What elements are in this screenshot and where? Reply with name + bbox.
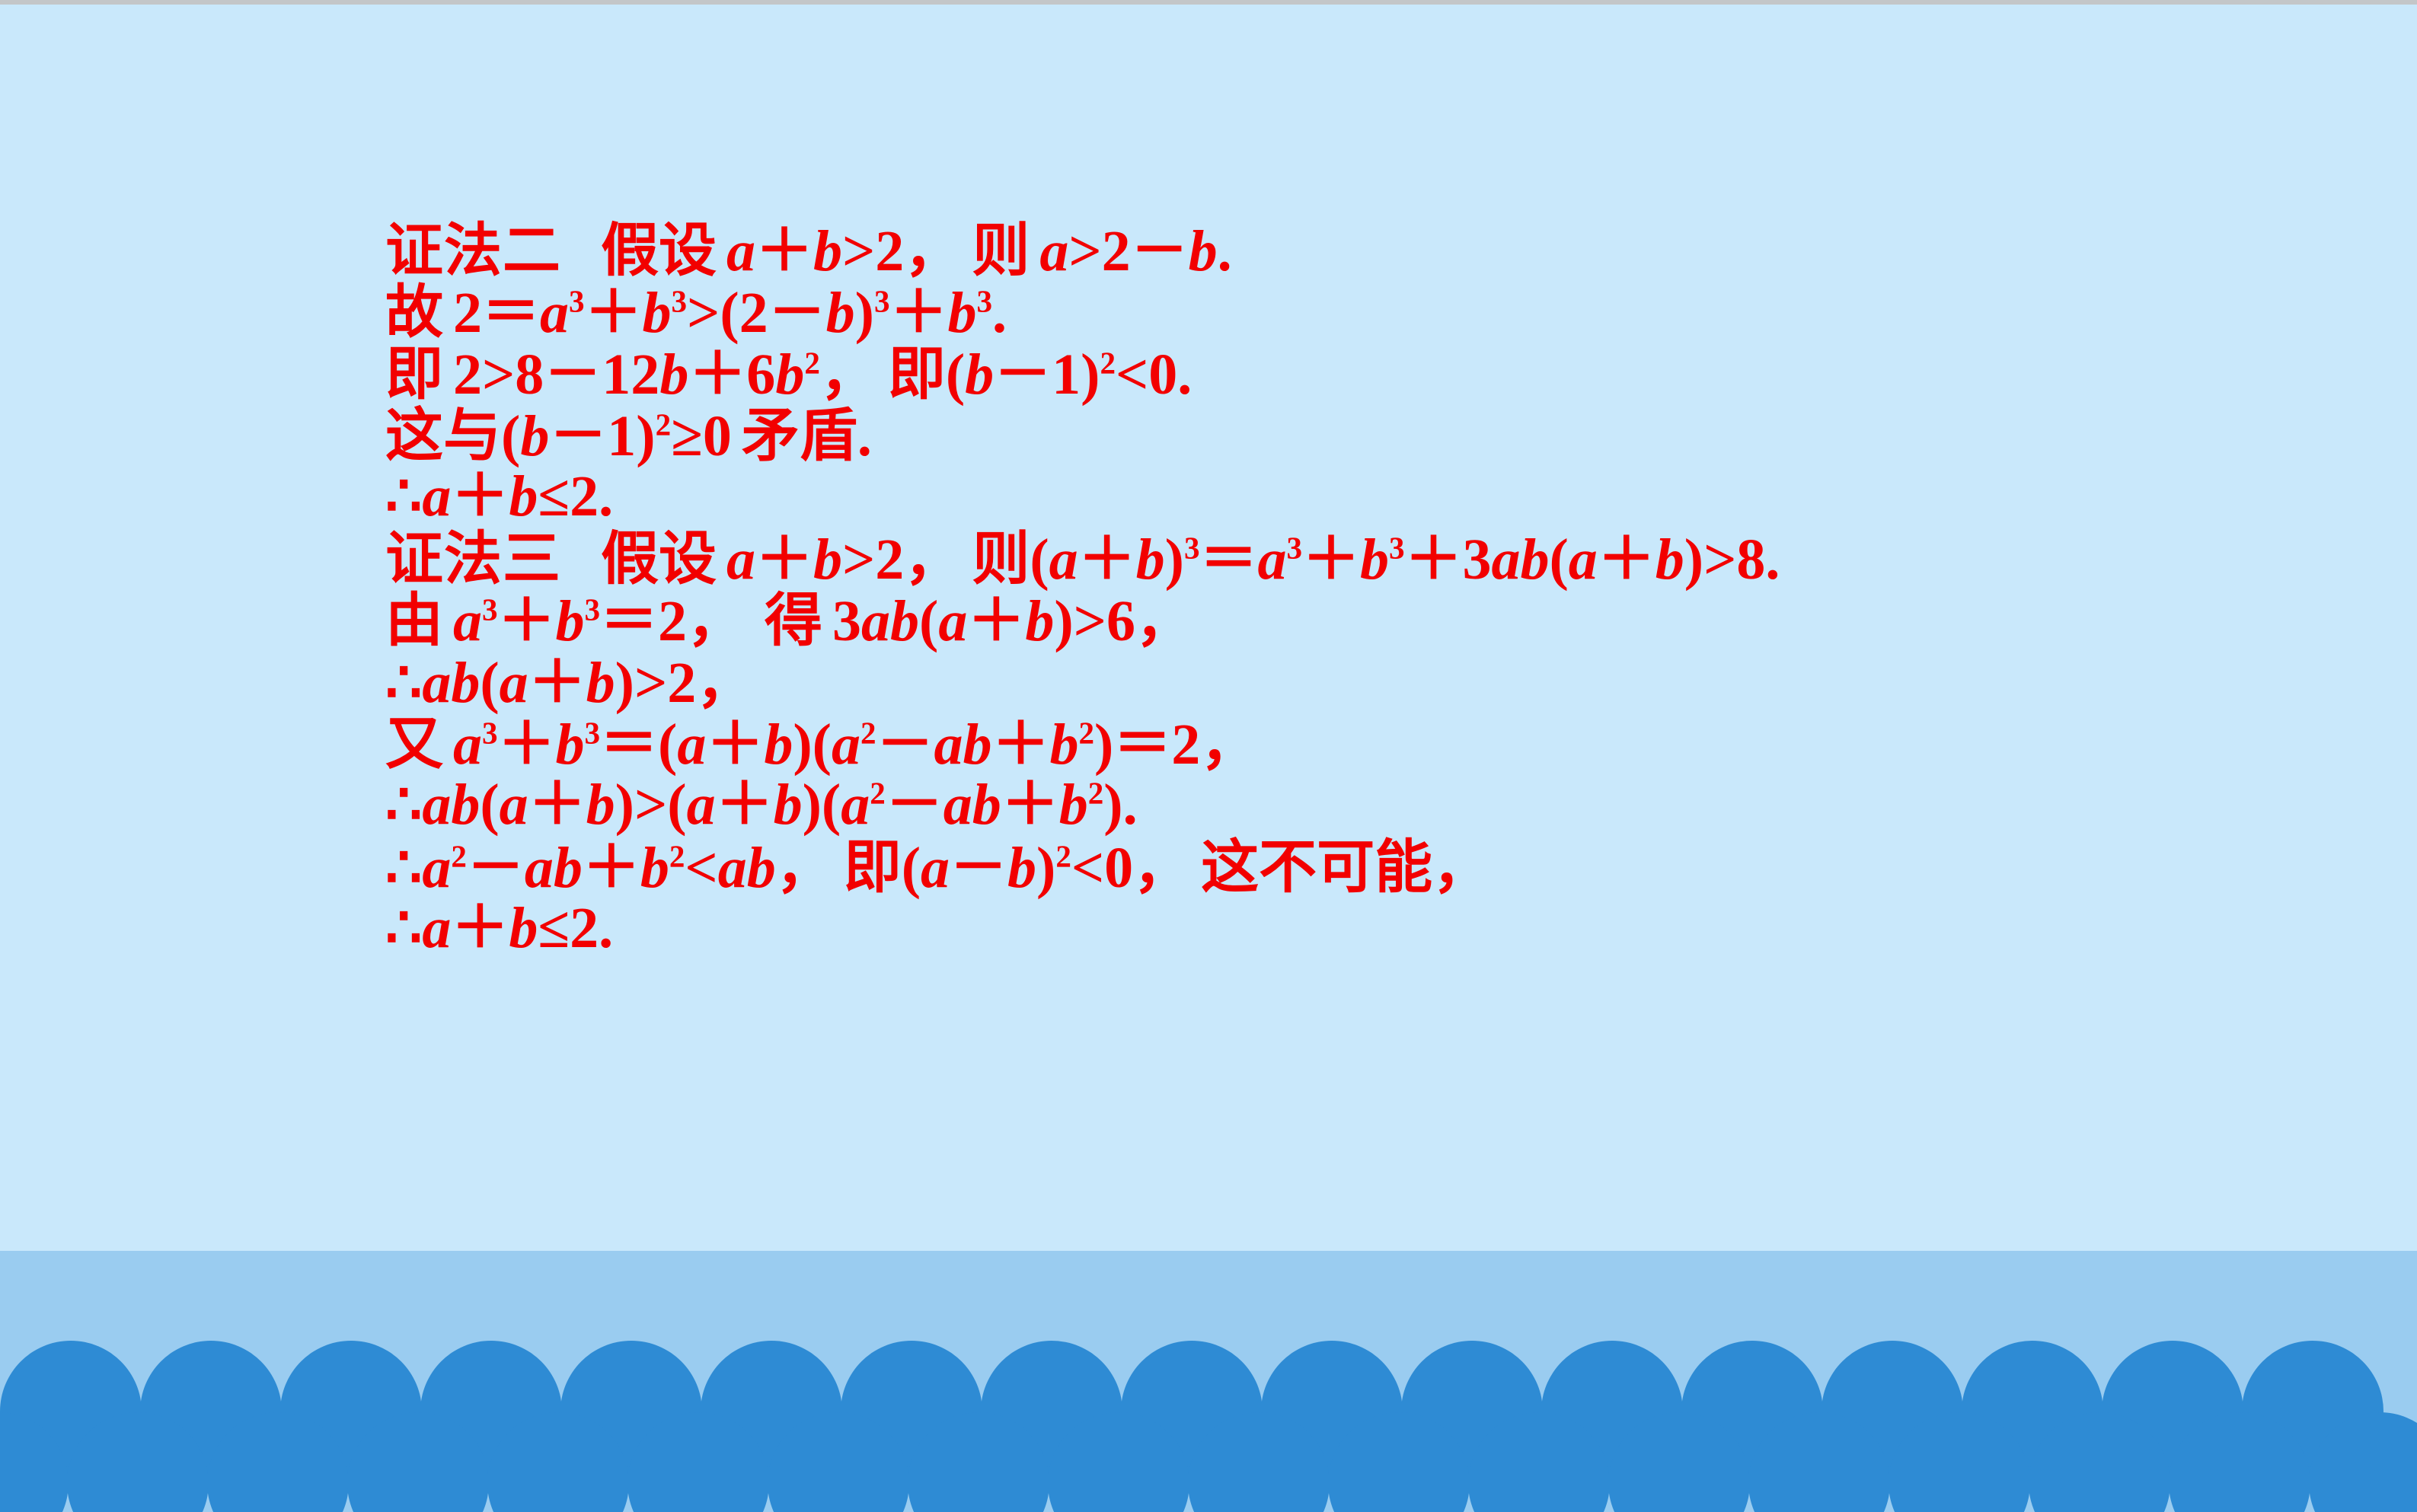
scallop-dot xyxy=(2029,1412,2170,1512)
scallop-dot xyxy=(347,1412,489,1512)
scallop-decoration-row-bottom xyxy=(0,1412,2417,1512)
scallop-dot xyxy=(1608,1412,1750,1512)
scallop-dot xyxy=(207,1412,349,1512)
proof-three-conclusion: ∴a＋b≤2. xyxy=(385,898,2380,959)
scallop-dot xyxy=(1048,1412,1189,1512)
scallop-dot xyxy=(0,1412,69,1512)
proof-three-step-3: 又a3＋b3＝(a＋b)(a2－ab＋b2)＝2， xyxy=(385,713,2380,774)
impossible-word: 这不可能 xyxy=(1201,833,1432,901)
that-is-word-c: 即 xyxy=(844,833,902,901)
proof-three-step-2: ∴ab(a＋b)>2， xyxy=(385,651,2380,713)
scallop-dot xyxy=(2169,1412,2310,1512)
proof-three-heading-line: 证法三假设a＋b>2，则(a＋b)3＝a3＋b3＋3ab(a＋b)>8. xyxy=(385,528,2380,589)
proof-three-label: 证法三 xyxy=(385,525,561,592)
proof-three-step-4: ∴ab(a＋b)>(a＋b)(a2－ab＋b2). xyxy=(385,774,2380,836)
assume-word-2: 假设 xyxy=(601,525,717,592)
then-word-2: 则 xyxy=(972,525,1030,592)
proof-text-block: 证法二假设a＋b>2，则a>2－b. 故2＝a3＋b3>(2－b)3＋b3. 即… xyxy=(385,219,2380,959)
therefore-cause-word: 故 xyxy=(385,278,443,346)
that-is-word-b: 即 xyxy=(888,340,946,407)
therefore-symbol-5: ∴ xyxy=(385,896,422,960)
proof-two-conclusion: ∴a＋b≤2. xyxy=(385,466,2380,528)
therefore-symbol-3: ∴ xyxy=(385,773,422,837)
therefore-symbol-1: ∴ xyxy=(385,464,422,528)
proof-two-step-2: 即2>8－12b＋6b2，即(b－1)2<0. xyxy=(385,343,2380,404)
from-word: 由 xyxy=(385,586,443,654)
scallop-dot xyxy=(487,1412,629,1512)
scallop-dot xyxy=(908,1412,1049,1512)
therefore-symbol-2: ∴ xyxy=(385,651,422,715)
scallop-dot xyxy=(1748,1412,1890,1512)
assume-word: 假设 xyxy=(601,216,717,284)
then-word: 则 xyxy=(972,216,1030,284)
scallop-dot xyxy=(1188,1412,1330,1512)
scallop-dot xyxy=(768,1412,909,1512)
scallop-dot xyxy=(1328,1412,1470,1512)
proof-two-heading-line: 证法二假设a＋b>2，则a>2－b. xyxy=(385,219,2380,281)
also-word: 又 xyxy=(385,710,443,777)
scallop-dot xyxy=(2309,1412,2417,1512)
get-word: 得 xyxy=(765,586,822,654)
proof-three-step-5: ∴a2－ab＋b2<ab，即(a－b)2<0，这不可能， xyxy=(385,836,2380,898)
scallop-dot xyxy=(1468,1412,1610,1512)
therefore-symbol-4: ∴ xyxy=(385,836,422,900)
top-edge-hairline xyxy=(0,0,2417,5)
scallop-row-bottom-offset xyxy=(0,1412,2417,1512)
that-is-word-a: 即 xyxy=(385,340,443,407)
scallop-dot xyxy=(67,1412,209,1512)
proof-two-label: 证法二 xyxy=(385,216,561,284)
scallop-dot xyxy=(1889,1412,2030,1512)
contradiction-word: 矛盾 xyxy=(742,401,857,469)
scallop-dot xyxy=(627,1412,769,1512)
proof-two-step-3: 这与(b－1)2≥0矛盾. xyxy=(385,404,2380,466)
slide-canvas: 证法二假设a＋b>2，则a>2－b. 故2＝a3＋b3>(2－b)3＋b3. 即… xyxy=(0,0,2417,1512)
this-with-word: 这与 xyxy=(385,401,501,469)
proof-three-step-1: 由a3＋b3＝2，得3ab(a＋b)>6， xyxy=(385,589,2380,651)
proof-two-step-1: 故2＝a3＋b3>(2－b)3＋b3. xyxy=(385,281,2380,343)
